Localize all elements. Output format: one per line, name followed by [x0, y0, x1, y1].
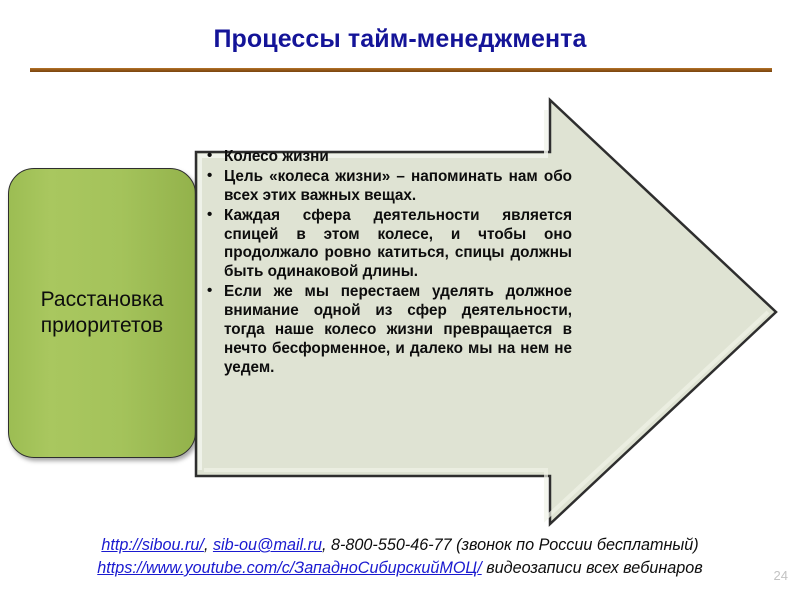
footer-phone-text: , 8-800-550-46-77 (звонок по России бесп… — [322, 536, 699, 554]
bullet-text: Если же мы перестаем уделять должное вни… — [224, 283, 572, 377]
page-number: 24 — [774, 568, 788, 583]
arrow-text-body: Колесо жизни Цель «колеса жизни» – напом… — [204, 148, 572, 379]
slide-canvas: Процессы тайм-менеджмента Расстановка пр… — [0, 0, 800, 600]
bullet-text: Каждая сфера деятельности является спице… — [224, 207, 572, 283]
youtube-link[interactable]: https://www.youtube.com/c/ЗападноСибирск… — [97, 559, 481, 577]
footer-youtube-caption: видеозаписи всех вебинаров — [482, 559, 703, 577]
bullet-list: Колесо жизни Цель «колеса жизни» – напом… — [204, 148, 572, 378]
arrow-callout: Колесо жизни Цель «колеса жизни» – напом… — [194, 98, 778, 526]
bullet-item: Если же мы перестаем уделять должное вни… — [204, 283, 572, 377]
footer-line-1: http://sibou.ru/, sib-ou@mail.ru, 8-800-… — [0, 534, 800, 557]
priority-box: Расстановка приоритетов — [8, 168, 196, 458]
footer-contacts: http://sibou.ru/, sib-ou@mail.ru, 8-800-… — [0, 534, 800, 580]
email-link[interactable]: sib-ou@mail.ru — [213, 536, 322, 554]
footer-separator: , — [204, 536, 213, 554]
footer-line-2: https://www.youtube.com/c/ЗападноСибирск… — [0, 557, 800, 580]
bullet-text: Колесо жизни — [224, 148, 572, 167]
priority-box-label: Расстановка приоритетов — [9, 287, 195, 338]
bullet-item: Колесо жизни — [204, 148, 572, 167]
bullet-item: Каждая сфера деятельности является спице… — [204, 207, 572, 283]
bullet-item: Цель «колеса жизни» – напоминать нам обо… — [204, 168, 572, 206]
bullet-text: Цель «колеса жизни» – напоминать нам обо… — [224, 168, 572, 206]
title-divider — [30, 68, 772, 72]
page-title: Процессы тайм-менеджмента — [0, 26, 800, 54]
website-link[interactable]: http://sibou.ru/ — [101, 536, 204, 554]
